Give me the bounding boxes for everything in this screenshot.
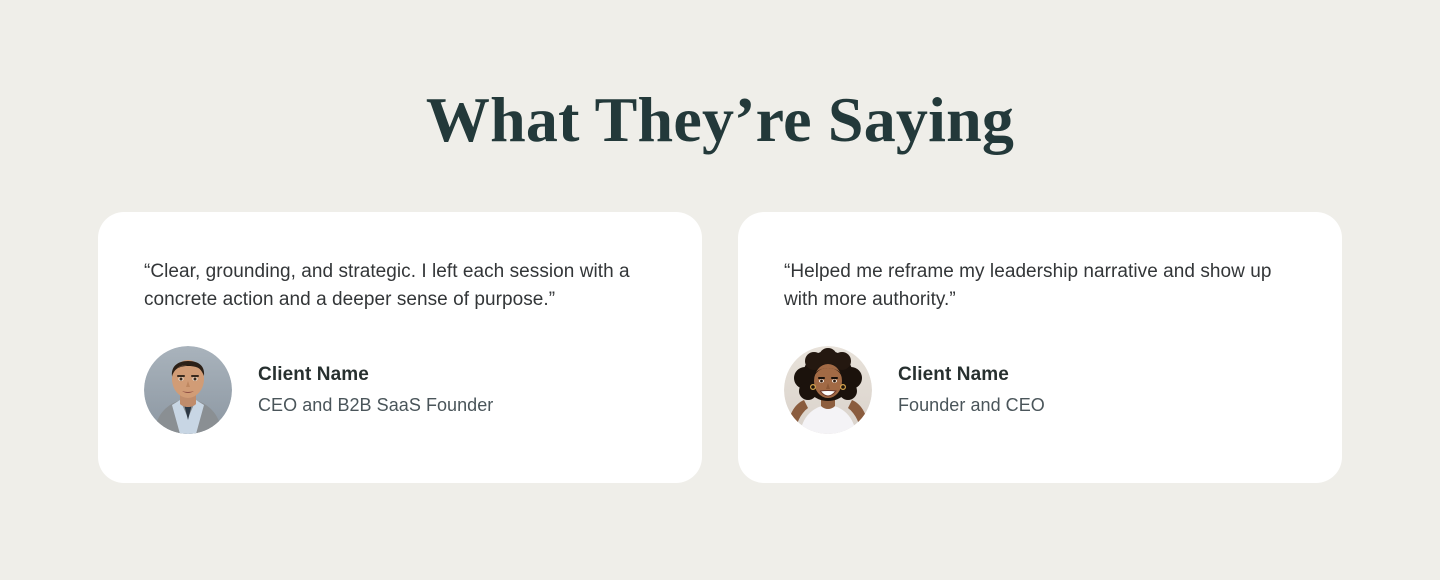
testimonial-author: Client Name CEO and B2B SaaS Founder — [144, 346, 656, 434]
client-role: Founder and CEO — [898, 395, 1045, 416]
avatar — [144, 346, 232, 434]
client-name: Client Name — [898, 364, 1045, 386]
page-title: What They’re Saying — [0, 88, 1440, 152]
testimonial-quote: “Clear, grounding, and strategic. I left… — [144, 258, 656, 314]
avatar-photo-man-icon — [144, 346, 232, 434]
author-text: Client Name Founder and CEO — [898, 364, 1045, 416]
testimonial-card-list: “Clear, grounding, and strategic. I left… — [98, 212, 1343, 483]
client-name: Client Name — [258, 364, 493, 386]
avatar-photo-woman-icon — [784, 346, 872, 434]
testimonial-card: “Clear, grounding, and strategic. I left… — [98, 212, 702, 483]
testimonial-card: “Helped me reframe my leadership narrati… — [738, 212, 1342, 483]
author-text: Client Name CEO and B2B SaaS Founder — [258, 364, 493, 416]
testimonial-quote: “Helped me reframe my leadership narrati… — [784, 258, 1296, 314]
avatar — [784, 346, 872, 434]
testimonials-section: What They’re Saying “Clear, grounding, a… — [0, 0, 1440, 580]
testimonial-author: Client Name Founder and CEO — [784, 346, 1296, 434]
client-role: CEO and B2B SaaS Founder — [258, 395, 493, 416]
